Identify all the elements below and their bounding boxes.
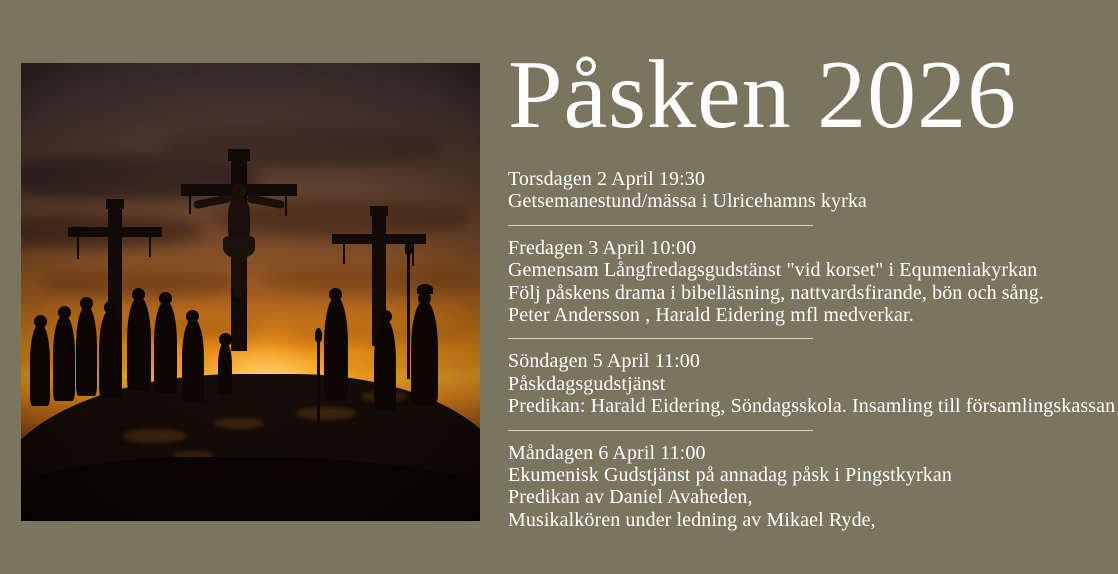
photo-canvas bbox=[21, 63, 480, 521]
schedule-line: Söndagen 5 April 11:00 bbox=[508, 350, 1108, 372]
schedule-line: Måndagen 6 April 11:00 bbox=[508, 442, 1108, 464]
schedule-line: Följ påskens drama i bibelläsning, nattv… bbox=[508, 282, 1108, 304]
schedule-line: Påskdagsgudstjänst bbox=[508, 373, 1108, 395]
divider bbox=[508, 430, 813, 431]
rock-icon bbox=[296, 407, 356, 421]
mourner-figure-icon bbox=[182, 319, 204, 403]
schedule-line: Peter Andersson , Harald Eidering mfl me… bbox=[508, 304, 1108, 326]
schedule-line: Predikan av Daniel Avaheden, bbox=[508, 486, 1108, 508]
cloud-band-icon bbox=[260, 265, 480, 295]
divider bbox=[508, 225, 813, 226]
schedule-line: Fredagen 3 April 10:00 bbox=[508, 237, 1108, 259]
schedule-block-fredagen: Fredagen 3 April 10:00 Gemensam Långfred… bbox=[508, 237, 1108, 327]
spear-icon bbox=[317, 338, 320, 424]
easter-poster: Påsken 2026 Torsdagen 2 April 19:30 Gets… bbox=[0, 0, 1118, 574]
mourner-figure-icon bbox=[76, 306, 97, 396]
mourner-figure-icon bbox=[218, 342, 232, 394]
mourner-figure-icon bbox=[127, 297, 151, 391]
schedule-line: Ekumenisk Gudstjänst på annadag påsk i P… bbox=[508, 464, 1108, 486]
mourner-figure-icon bbox=[154, 301, 177, 393]
schedule-line: Musikalkören under ledning av Mikael Ryd… bbox=[508, 509, 1108, 531]
mourner-figure-icon bbox=[53, 315, 75, 401]
spear-icon bbox=[407, 251, 410, 379]
schedule-line: Torsdagen 2 April 19:30 bbox=[508, 168, 1108, 190]
foreground-ground bbox=[21, 457, 480, 521]
schedule-block-torsdagen: Torsdagen 2 April 19:30 Getsemanestund/m… bbox=[508, 168, 1108, 213]
schedule-line: Predikan: Harald Eidering, Söndagsskola.… bbox=[508, 395, 1108, 417]
page-title: Påsken 2026 bbox=[508, 46, 1017, 144]
mourner-figure-icon bbox=[30, 324, 50, 406]
soldier-figure-icon bbox=[324, 297, 348, 401]
schedule-list: Torsdagen 2 April 19:30 Getsemanestund/m… bbox=[508, 168, 1108, 531]
schedule-line: Getsemanestund/mässa i Ulricehamns kyrka bbox=[508, 190, 1108, 212]
soldier-helmet-figure-icon bbox=[411, 301, 438, 405]
schedule-block-mandagen: Måndagen 6 April 11:00 Ekumenisk Gudstjä… bbox=[508, 442, 1108, 532]
schedule-block-sondagen: Söndagen 5 April 11:00 Påskdagsgudstjäns… bbox=[508, 350, 1108, 417]
mourner-figure-icon bbox=[99, 310, 122, 398]
schedule-line: Gemensam Långfredagsgudstänst "vid korse… bbox=[508, 259, 1108, 281]
soldier-figure-icon bbox=[374, 319, 396, 411]
cloud-band-icon bbox=[214, 200, 471, 237]
poster-content: Påsken 2026 Torsdagen 2 April 19:30 Gets… bbox=[508, 0, 1108, 574]
divider bbox=[508, 338, 813, 339]
crucifixion-photo bbox=[21, 63, 480, 521]
